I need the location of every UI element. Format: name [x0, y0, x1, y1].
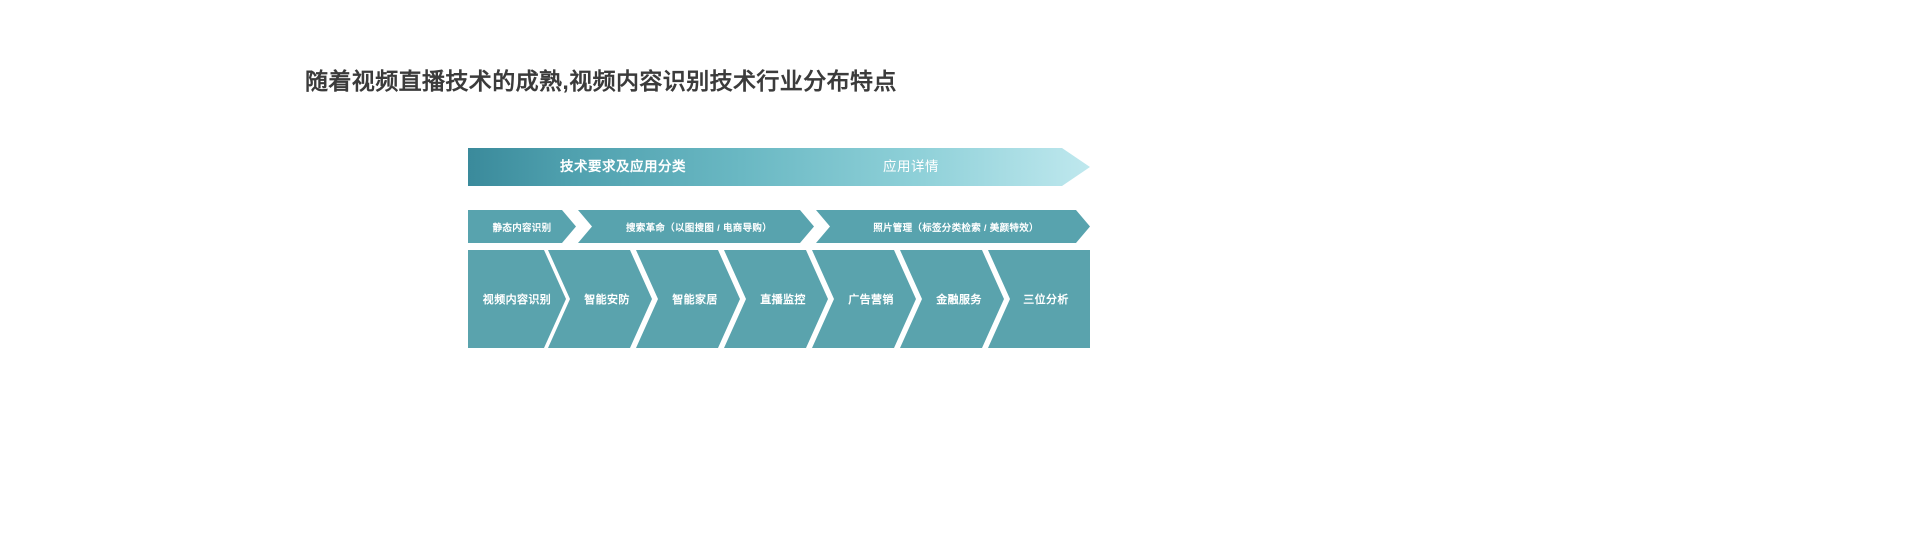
application-chevron-label: 金融服务 [922, 291, 982, 307]
application-chevron-label: 视频内容识别 [483, 291, 551, 307]
application-chevron-row: 视频内容识别 智能安防 智能家居 直播监控 广告营销 金融服务 三位分析 [468, 250, 1090, 348]
application-chevron-label: 三位分析 [1009, 291, 1069, 307]
gradient-arrow-band: 技术要求及应用分类 应用详情 [468, 148, 1090, 186]
application-chevron-label: 智能家居 [658, 291, 718, 307]
application-chevron-label: 智能安防 [570, 291, 630, 307]
application-chevron[interactable]: 视频内容识别 [468, 250, 566, 348]
category-chevron[interactable]: 搜索革命（以图搜图 / 电商导购） [578, 210, 814, 243]
category-chevron[interactable]: 照片管理（标签分类检索 / 美颜特效） [816, 210, 1090, 243]
category-chevron-label: 搜索革命（以图搜图 / 电商导购） [620, 220, 772, 234]
process-infographic: 技术要求及应用分类 应用详情 静态内容识别 搜索革命（以图搜图 / 电商导购） … [468, 148, 1090, 348]
category-chevron-label: 照片管理（标签分类检索 / 美颜特效） [867, 220, 1039, 234]
category-chevron-row: 静态内容识别 搜索革命（以图搜图 / 电商导购） 照片管理（标签分类检索 / 美… [468, 210, 1090, 243]
arrow-band-left-label: 技术要求及应用分类 [560, 148, 686, 186]
arrow-band-right-label: 应用详情 [883, 148, 939, 186]
page-title: 随着视频直播技术的成熟,视频内容识别技术行业分布特点 [305, 62, 897, 96]
application-chevron-label: 广告营销 [834, 291, 894, 307]
category-chevron-label: 静态内容识别 [493, 220, 552, 234]
category-chevron[interactable]: 静态内容识别 [468, 210, 576, 243]
application-chevron-label: 直播监控 [746, 291, 806, 307]
